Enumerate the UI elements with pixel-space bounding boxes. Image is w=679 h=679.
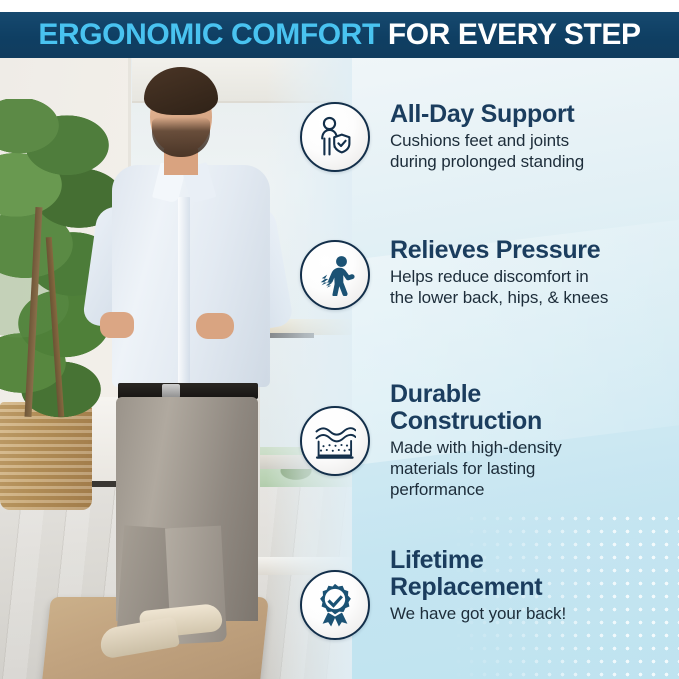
product-infographic: ERGONOMIC COMFORT FOR EVERY STEP All-Day… <box>0 0 679 679</box>
layered-foam-material-icon <box>300 406 370 476</box>
feature-item-relieves-pressure: Relieves Pressure Helps reduce discomfor… <box>300 236 608 310</box>
award-badge-check-icon <box>300 570 370 640</box>
feature-text-block: Durable Construction Made with high-dens… <box>390 380 562 501</box>
feature-text-block: Lifetime Replacement We have got your ba… <box>390 546 566 624</box>
header-title-main: FOR EVERY STEP <box>388 18 641 51</box>
page-title: ERGONOMIC COMFORT FOR EVERY STEP <box>38 20 640 50</box>
person-with-back-pain-icon <box>300 240 370 310</box>
feature-title: All-Day Support <box>390 101 584 128</box>
header-banner: ERGONOMIC COMFORT FOR EVERY STEP <box>0 12 679 58</box>
feature-description: Helps reduce discomfort in the lower bac… <box>390 266 608 309</box>
feature-description: Cushions feet and joints during prolonge… <box>390 130 584 173</box>
feature-list: All-Day Support Cushions feet and joints… <box>0 58 679 679</box>
feature-title: Durable Construction <box>390 381 562 435</box>
feature-item-all-day-support: All-Day Support Cushions feet and joints… <box>300 100 584 173</box>
feature-item-lifetime-replacement: Lifetime Replacement We have got your ba… <box>300 546 566 640</box>
feature-title: Lifetime Replacement <box>390 547 566 601</box>
feature-description: Made with high-density materials for las… <box>390 437 562 501</box>
feature-title: Relieves Pressure <box>390 237 608 264</box>
feature-text-block: Relieves Pressure Helps reduce discomfor… <box>390 236 608 309</box>
feature-item-durable-construction: Durable Construction Made with high-dens… <box>300 380 562 501</box>
header-title-accent: ERGONOMIC COMFORT <box>38 18 380 51</box>
feature-text-block: All-Day Support Cushions feet and joints… <box>390 100 584 173</box>
feature-description: We have got your back! <box>390 603 566 624</box>
header-top-strip <box>0 0 679 12</box>
person-with-shield-icon <box>300 102 370 172</box>
